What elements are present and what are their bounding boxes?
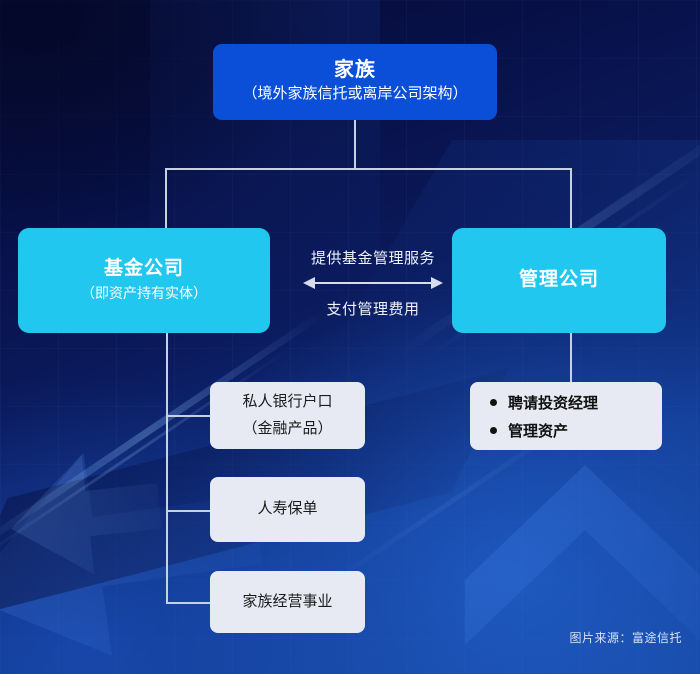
bullet-dot-icon — [490, 399, 497, 406]
node-private-bank-account-line1: 私人银行户口 — [242, 389, 332, 415]
node-private-bank-account-line2: （金融产品） — [242, 416, 332, 442]
image-source-credit: 图片来源：富途信托 — [569, 629, 682, 646]
node-fund-company[interactable]: 基金公司 （即资产持有实体） — [18, 228, 270, 333]
node-family-business-line1: 家族经营事业 — [242, 589, 332, 615]
node-life-insurance-policy[interactable]: 人寿保单 — [210, 477, 365, 542]
management-duty-label: 管理资产 — [508, 420, 568, 441]
list-item: 管理资产 — [490, 420, 662, 441]
bullet-dot-icon — [490, 427, 497, 434]
connector-to-life-insurance — [166, 510, 212, 512]
connector-to-management-company — [570, 168, 572, 230]
connector-management-stem — [570, 333, 572, 383]
relation-label-top: 提供基金管理服务 — [283, 247, 463, 268]
node-family-business[interactable]: 家族经营事业 — [210, 571, 365, 633]
node-private-bank-account[interactable]: 私人银行户口 （金融产品） — [210, 382, 365, 449]
node-management-company-title: 管理公司 — [519, 268, 599, 293]
connector-horizontal-bus — [165, 168, 572, 170]
node-fund-company-title: 基金公司 — [104, 257, 184, 282]
node-life-insurance-policy-line1: 人寿保单 — [257, 496, 317, 522]
connector-to-family-business — [166, 602, 212, 604]
relation-label-bottom: 支付管理费用 — [283, 298, 463, 319]
node-management-company[interactable]: 管理公司 — [452, 228, 666, 333]
node-family-root[interactable]: 家族 （境外家族信托或离岸公司架构） — [213, 44, 497, 120]
double-arrow-icon — [303, 275, 443, 291]
node-family-title: 家族 — [334, 58, 376, 83]
connector-to-private-bank — [166, 415, 212, 417]
node-management-duties[interactable]: 聘请投资经理 管理资产 — [470, 382, 662, 450]
connector-to-fund-company — [165, 168, 167, 230]
node-family-subtitle: （境外家族信托或离岸公司架构） — [242, 83, 467, 106]
node-fund-company-subtitle: （即资产持有实体） — [81, 282, 207, 304]
list-item: 聘请投资经理 — [490, 392, 662, 413]
connector-root-stem — [354, 120, 356, 169]
connector-fund-trunk — [166, 333, 168, 604]
management-duty-label: 聘请投资经理 — [508, 392, 598, 413]
diagram-canvas: 家族 （境外家族信托或离岸公司架构） 基金公司 （即资产持有实体） 管理公司 提… — [0, 0, 700, 674]
